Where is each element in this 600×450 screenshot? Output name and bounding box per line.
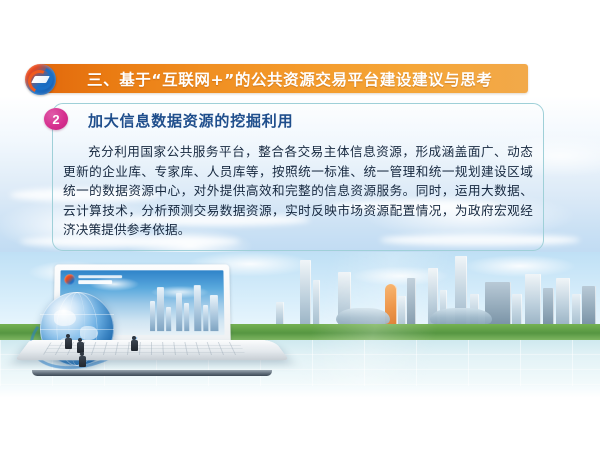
laptop-keyboard [43, 342, 246, 355]
laptop-illustration [26, 252, 276, 388]
laptop-base [15, 340, 289, 360]
section-title-banner: 三、基于“互联网+”的公共资源交易平台建设建议与思考 [41, 64, 528, 93]
screen-skyline-render [146, 279, 223, 331]
globe-landmass [80, 326, 98, 340]
section-body-text: 充分利用国家公共服务平台，整合各交易主体信息资源，形成涵盖面广、动态更新的企业库… [63, 142, 533, 240]
bottom-fade [0, 386, 600, 398]
laptop-front-edge [32, 370, 272, 376]
globe-landmass [54, 310, 76, 326]
globe-parallel [40, 314, 114, 315]
presentation-slide: 三、基于“互联网+”的公共资源交易平台建设建议与思考 2 加大信息数据资源的挖掘… [0, 0, 600, 450]
site-logo [64, 274, 75, 285]
page-title: 三、基于“互联网+”的公共资源交易平台建设建议与思考 [87, 68, 492, 90]
section-number-badge: 2 [44, 108, 68, 130]
screen-site-header [64, 274, 122, 285]
section-heading: 加大信息数据资源的挖掘利用 [88, 110, 293, 131]
public-resource-exchange-logo [25, 64, 56, 95]
globe-parallel [40, 329, 114, 330]
site-title-placeholder [78, 275, 122, 284]
illustration-photo [0, 252, 600, 392]
